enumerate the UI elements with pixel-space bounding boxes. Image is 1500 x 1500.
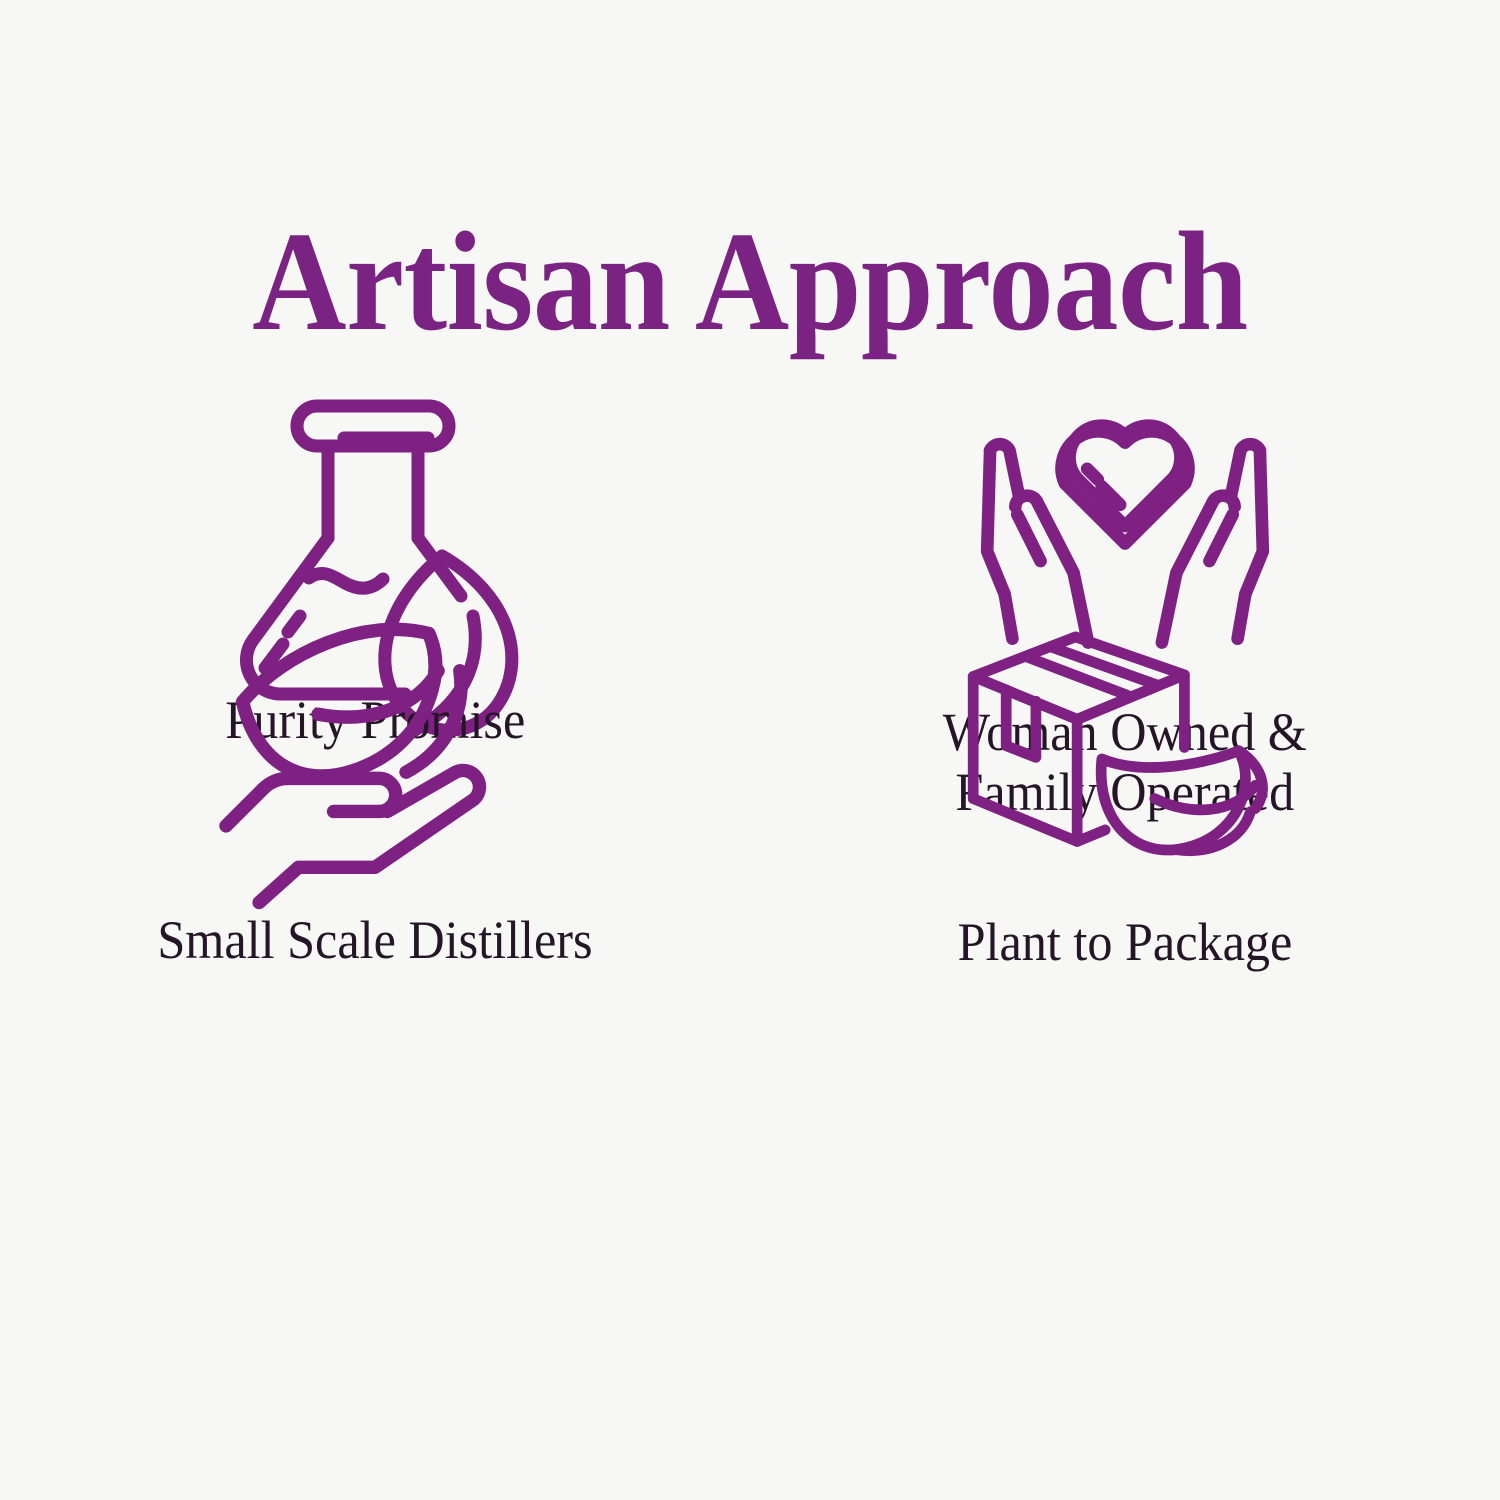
artisan-approach-graphic: Artisan Approach	[0, 0, 1500, 1500]
feature-label: Small Scale Distillers	[157, 910, 592, 970]
feature-small-scale-distillers: Small Scale Distillers	[0, 0, 750, 970]
feature-plant-to-package: Plant to Package	[750, 0, 1500, 972]
box-leaf-icon	[960, 590, 1290, 890]
feature-label: Plant to Package	[958, 912, 1293, 972]
hand-leaf-icon	[210, 588, 540, 888]
